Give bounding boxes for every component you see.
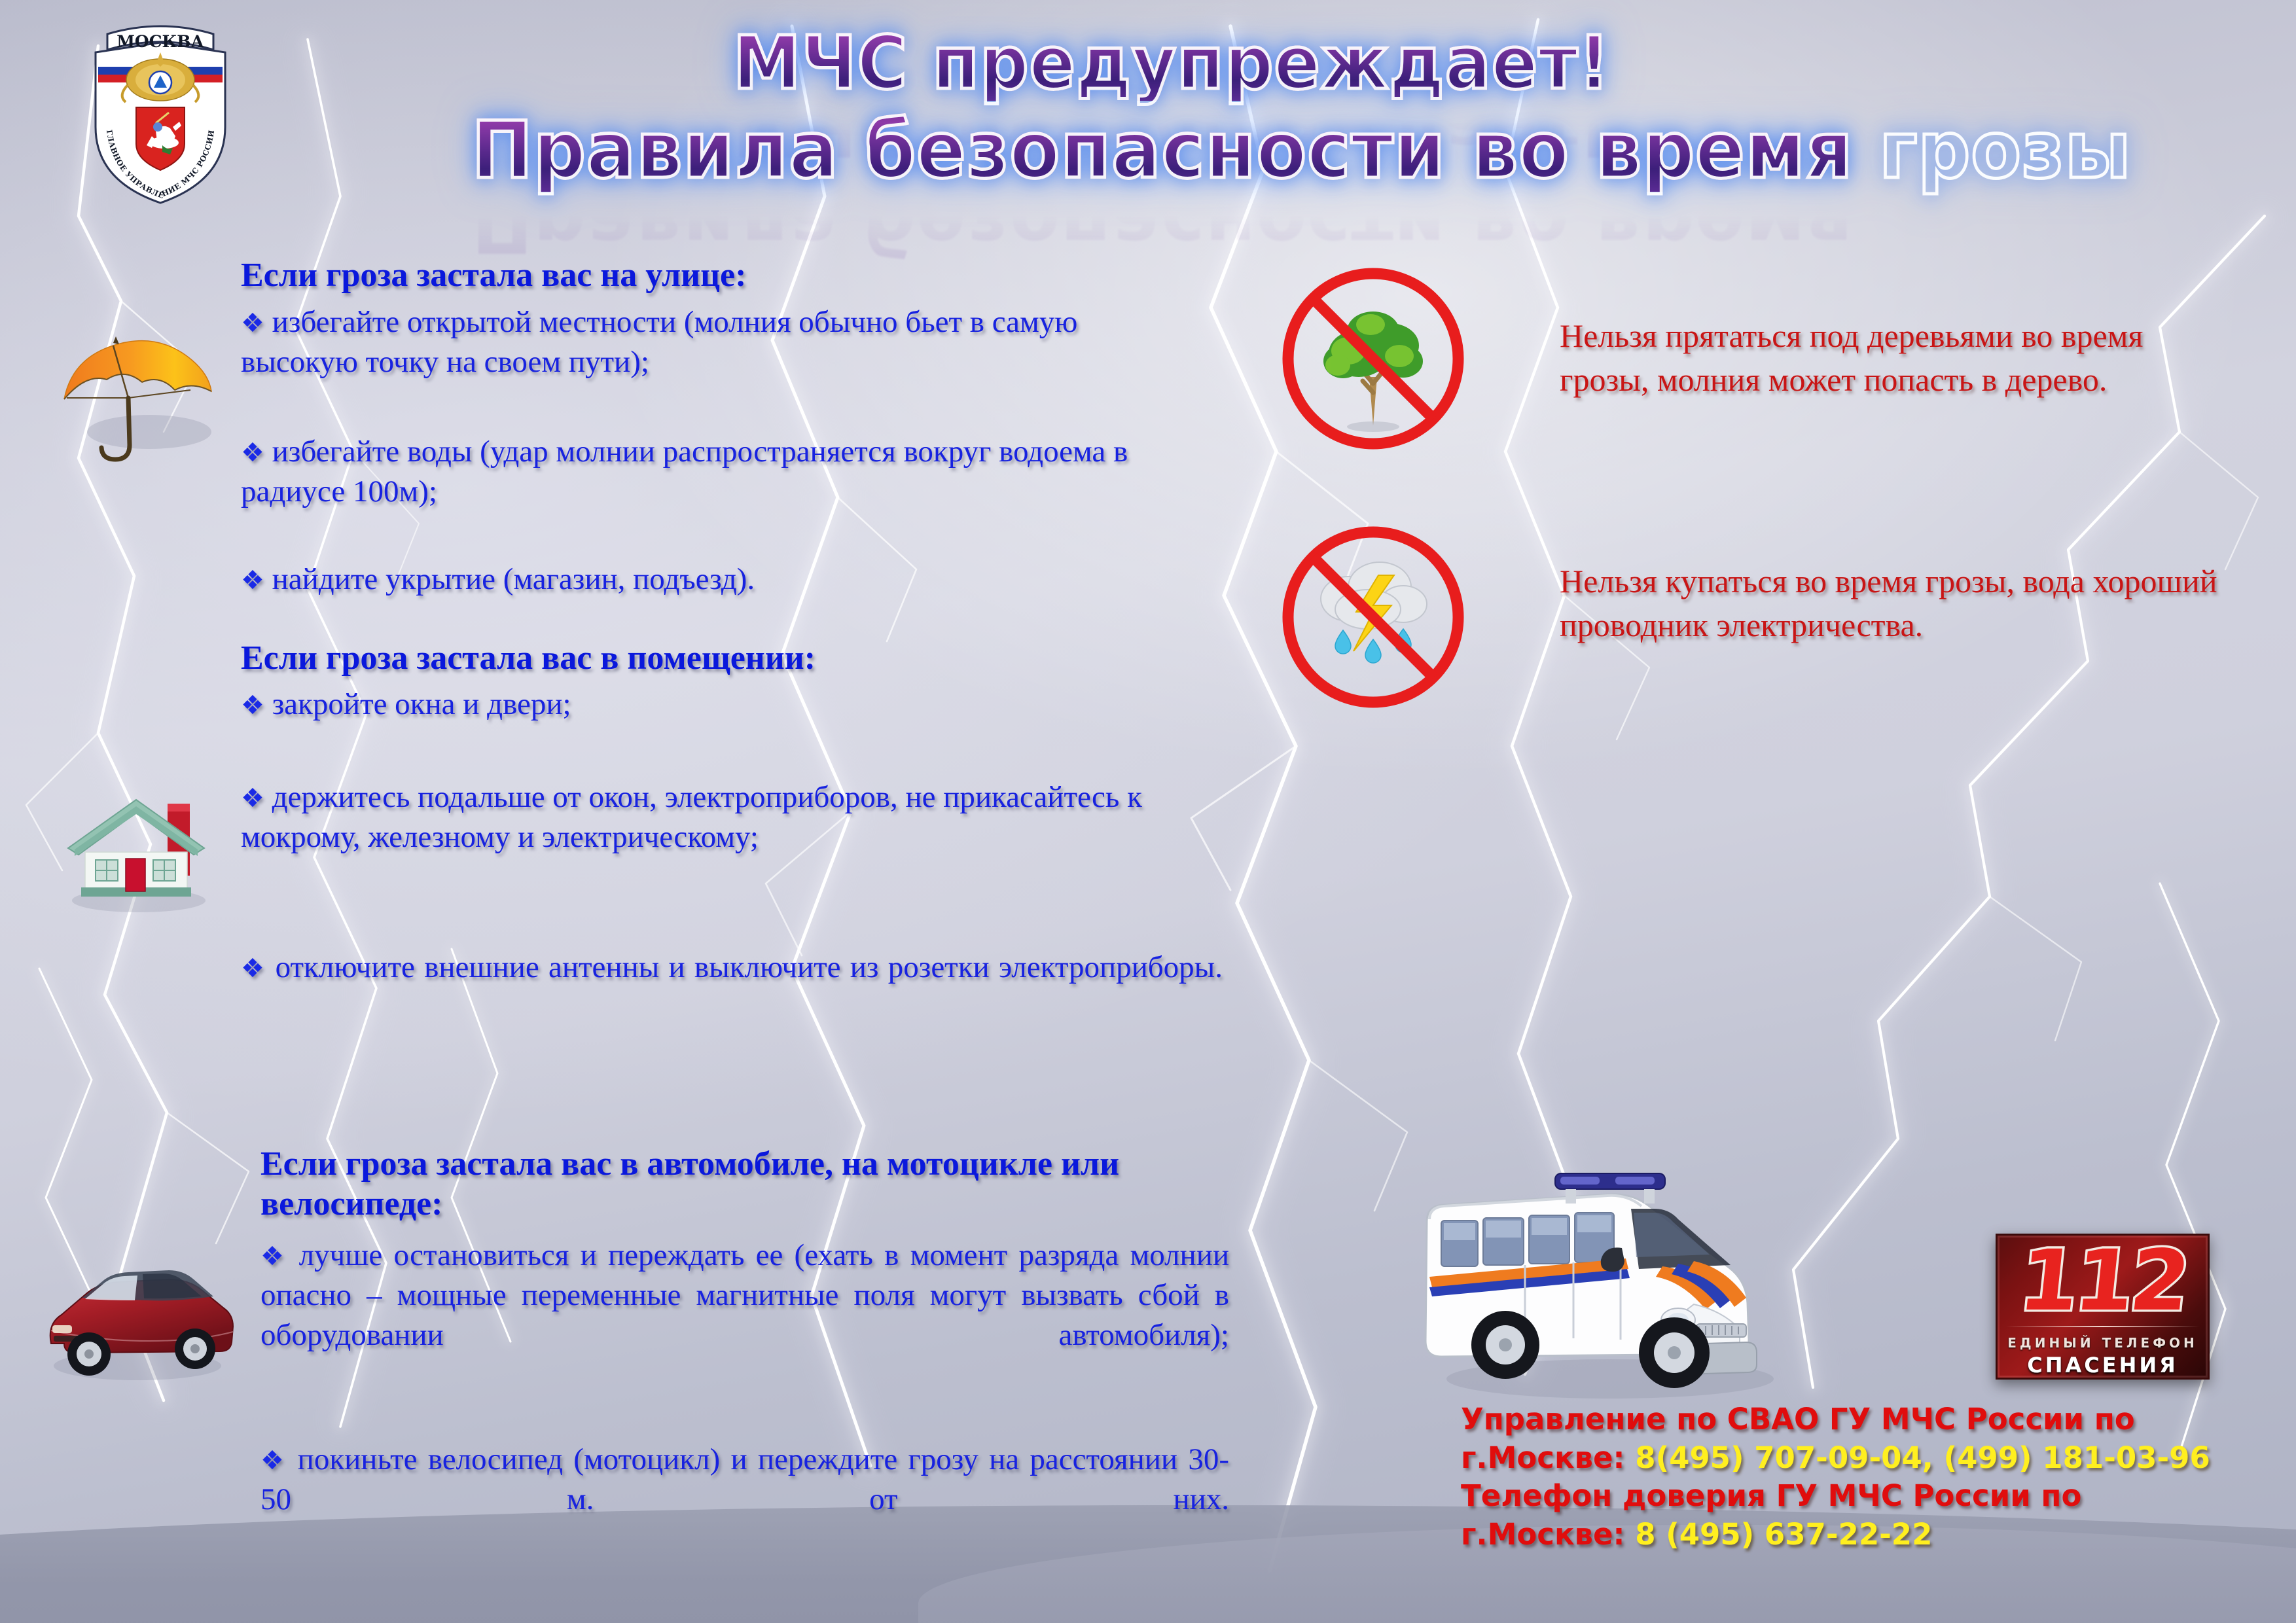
warning-text-2: Нельзя купаться во время грозы, вода хор… (1560, 560, 2234, 647)
house-icon (68, 800, 204, 897)
contact-line-4: г.Москве: 8 (495) 637-22-22 (1461, 1516, 2279, 1554)
emergency-van-icon (1426, 1173, 1757, 1388)
title-line-1: МЧС предупреждает! (472, 26, 1872, 101)
logo112-number: 112 (2015, 1240, 2191, 1323)
emercom-moscow-emblem: МОСКВА ГЛАВНОЕ УПРАВЛЕНИЕ МЧС РОССИИ ПО … (79, 14, 242, 204)
title-line-2-reflection: Правила безопасности во время грозы (472, 183, 1872, 262)
logo112-subtitle-1: ЕДИНЫЙ ТЕЛЕФОН (2007, 1335, 2198, 1351)
bullet-glyph-icon: ❖ (260, 1446, 287, 1476)
bullet-glyph-icon: ❖ (260, 1241, 287, 1272)
contact-line-2: г.Москве: 8(495) 707-09-04, (499) 181-03… (1461, 1439, 2279, 1478)
emergency-number-112-logo: 112 ЕДИНЫЙ ТЕЛЕФОН СПАСЕНИЯ (1996, 1234, 2210, 1380)
section-1-bullet-2: ❖ избегайте воды (удар молнии распростра… (241, 432, 1190, 512)
car-illustration (34, 1247, 237, 1391)
contact-line-3: Телефон доверия ГУ МЧС России по (1461, 1477, 2279, 1516)
section-1-heading: Если гроза застала вас на улице: (241, 255, 1157, 295)
bullet-glyph-icon: ❖ (241, 308, 264, 338)
warning-text-1: Нельзя прятаться под деревьями во время … (1560, 314, 2214, 402)
section-3-bullet-1: ❖ лучше остановиться и переждать ее (еха… (260, 1236, 1229, 1395)
section-3-bullet-2: ❖ покиньте велосипед (мотоцикл) и пережд… (260, 1440, 1229, 1560)
bullet-text: отключите внешние антенны и выключите из… (276, 950, 1223, 984)
poster-title: МЧС предупреждает! МЧС предупреждает! Пр… (419, 26, 1924, 262)
bullet-glyph-icon: ❖ (241, 565, 264, 596)
bullet-glyph-icon: ❖ (241, 954, 266, 984)
contact-line-1: Управление по СВАО ГУ МЧС России по (1461, 1400, 2279, 1439)
bullet-glyph-icon: ❖ (241, 690, 264, 721)
contact-line-2-label: г.Москве: (1461, 1440, 1635, 1475)
section-3-heading: Если гроза застала вас в автомобиле, на … (260, 1144, 1131, 1224)
bullet-text: найдите укрытие (магазин, подъезд). (272, 562, 755, 596)
bullet-text: избегайте воды (удар молнии распространя… (241, 435, 1128, 508)
umbrella-illustration (51, 327, 221, 471)
section-1-bullet-1: ❖ избегайте открытой местности (молния о… (241, 302, 1190, 382)
section-2-bullet-3: ❖ отключите внешние антенны и выключите … (241, 948, 1223, 1027)
rescue-van-illustration (1401, 1149, 1806, 1404)
section-2-bullet-1: ❖ закройте окна и двери; (241, 685, 1190, 724)
logo112-subtitle-2: СПАСЕНИЯ (2027, 1353, 2178, 1378)
house-illustration (55, 772, 219, 916)
poster-canvas: МОСКВА ГЛАВНОЕ УПРАВЛЕНИЕ МЧС РОССИИ ПО … (0, 0, 2296, 1623)
section-2-heading: Если гроза застала вас в помещении: (241, 638, 1157, 678)
contacts-block: Управление по СВАО ГУ МЧС России по г.Мо… (1461, 1400, 2279, 1554)
bullet-text: лучше остановиться и переждать ее (ехать… (260, 1238, 1229, 1352)
no-swimming-storm-sign (1275, 520, 1471, 717)
section-2-bullet-2: ❖ держитесь подальше от окон, электропри… (241, 777, 1157, 857)
contact-phone-2: 8 (495) 637-22-22 (1635, 1517, 1932, 1552)
logo-banner-text: МОСКВА (117, 32, 204, 51)
contact-phone-1: 8(495) 707-09-04, (499) 181-03-96 (1635, 1440, 2210, 1475)
contact-line-4-label: г.Москве: (1461, 1517, 1635, 1552)
no-tree-shelter-sign (1275, 262, 1471, 458)
title-line-2: Правила безопасности во время грозы (472, 111, 1872, 191)
bullet-text: закройте окна и двери; (272, 687, 571, 721)
bullet-text: держитесь подальше от окон, электроприбо… (241, 780, 1142, 854)
bullet-glyph-icon: ❖ (241, 438, 264, 468)
bullet-glyph-icon: ❖ (241, 783, 264, 813)
section-1-bullet-3: ❖ найдите укрытие (магазин, подъезд). (241, 560, 1190, 599)
bullet-text: избегайте открытой местности (молния обы… (241, 305, 1077, 379)
bullet-text: покиньте велосипед (мотоцикл) и переждит… (260, 1442, 1229, 1516)
logo-banner: МОСКВА (107, 26, 213, 51)
